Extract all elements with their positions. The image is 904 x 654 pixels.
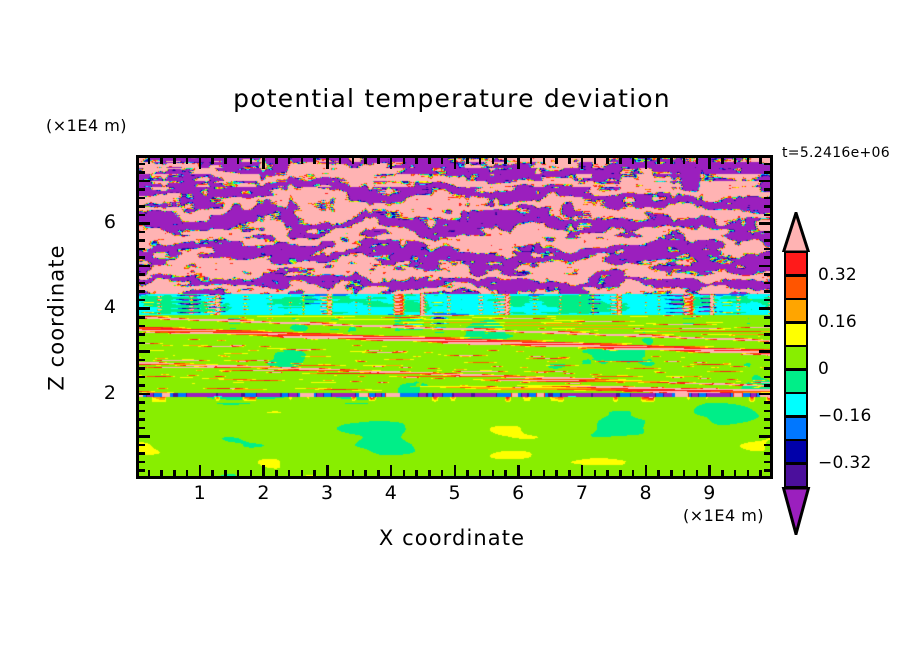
colorbar-under-arrow <box>780 487 812 535</box>
time-annotation: t=5.2416e+06 <box>782 146 890 160</box>
colorbar-tick-label: 0.32 <box>818 267 857 284</box>
chart-title: potential temperature deviation <box>0 86 904 111</box>
colorbar-tick-label: −0.32 <box>818 455 872 472</box>
x-axis-unit-label: (×1E4 m) <box>683 508 764 524</box>
colorbar-band-separator <box>784 392 808 395</box>
colorbar-band-separator <box>784 298 808 301</box>
colorbar-tick-label: −0.16 <box>818 408 872 425</box>
colorbar-band-separator <box>784 345 808 348</box>
colorbar-band <box>784 464 808 488</box>
x-tick-label: 5 <box>435 484 475 503</box>
colorbar-band-separator <box>784 439 808 442</box>
x-tick-label: 1 <box>180 484 220 503</box>
colorbar-band-separator <box>784 462 808 465</box>
plot-area <box>136 155 773 479</box>
x-tick-label: 9 <box>689 484 729 503</box>
colorbar: 0.320.160−0.16−0.32 <box>780 212 820 512</box>
colorbar-band <box>784 370 808 394</box>
colorbar-over-arrow <box>780 212 812 252</box>
y-tick-label: 2 <box>90 384 116 403</box>
x-tick-label: 4 <box>371 484 411 503</box>
colorbar-band <box>784 417 808 441</box>
z-axis-unit-label: (×1E4 m) <box>46 118 127 134</box>
x-tick-label: 6 <box>498 484 538 503</box>
colorbar-band-separator <box>784 274 808 277</box>
colorbar-band <box>784 323 808 347</box>
figure-root: potential temperature deviation (×1E4 m)… <box>0 0 904 654</box>
colorbar-band <box>784 440 808 464</box>
colorbar-band <box>784 393 808 417</box>
colorbar-band <box>784 346 808 370</box>
colorbar-band-separator <box>784 368 808 371</box>
x-tick-label: 7 <box>562 484 602 503</box>
colorbar-tick-label: 0.16 <box>818 314 857 331</box>
y-axis-label: Z coordinate <box>47 228 68 408</box>
y-tick-label: 6 <box>90 213 116 232</box>
colorbar-band-separator <box>784 415 808 418</box>
x-tick-label: 2 <box>243 484 283 503</box>
x-tick-label: 8 <box>626 484 666 503</box>
y-tick-label: 4 <box>90 298 116 317</box>
contour-field <box>136 155 773 479</box>
x-tick-label: 3 <box>307 484 347 503</box>
x-axis-label: X coordinate <box>0 528 904 549</box>
colorbar-band-separator <box>784 321 808 324</box>
colorbar-band-separator <box>784 251 808 254</box>
colorbar-band <box>784 276 808 300</box>
colorbar-band <box>784 299 808 323</box>
colorbar-band <box>784 252 808 276</box>
colorbar-tick-label: 0 <box>818 361 829 378</box>
